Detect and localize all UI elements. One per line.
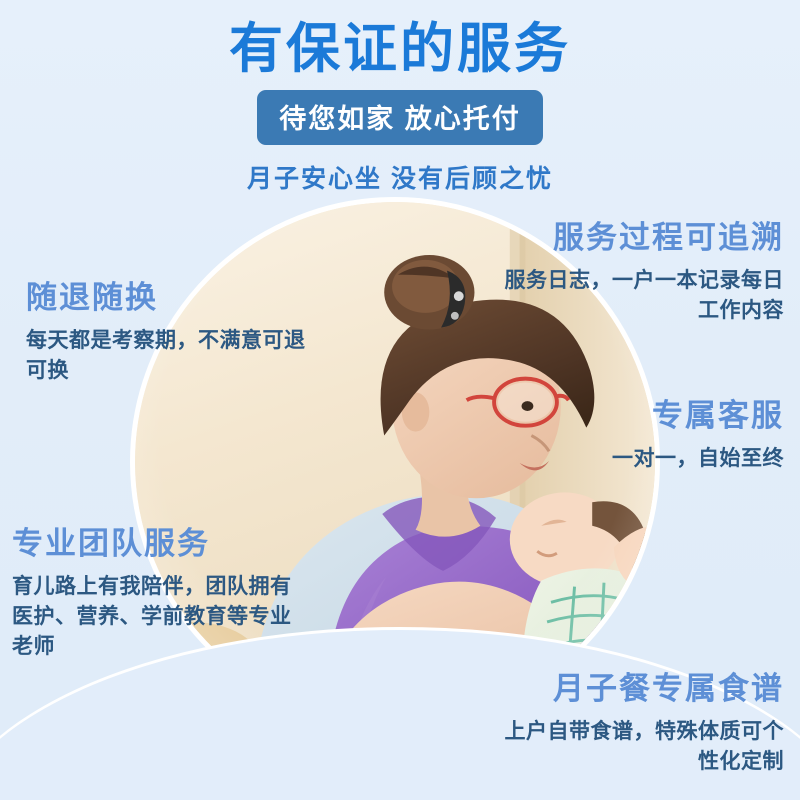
status-badge: 待您如家 放心托付	[257, 90, 543, 145]
feature-title: 月子餐专属食谱	[484, 663, 784, 708]
feature-title: 服务过程可追溯	[484, 212, 784, 257]
feature-body: 服务日志，一户一本记录每日工作内容	[484, 266, 784, 326]
feature-dedicated-service: 专属客服 一对一，自始至终	[474, 390, 784, 474]
feature-body: 一对一，自始至终	[474, 444, 784, 474]
poster-canvas: 有保证的服务 待您如家 放心托付 月子安心坐 没有后顾之忧	[0, 0, 800, 800]
feature-body: 每天都是考察期，不满意可退可换	[26, 326, 326, 386]
poster-header: 有保证的服务 待您如家 放心托付 月子安心坐 没有后顾之忧	[0, 0, 800, 195]
page-title: 有保证的服务	[0, 0, 800, 80]
feature-title: 专属客服	[474, 390, 784, 435]
feature-body: 育儿路上有我陪伴，团队拥有医护、营养、学前教育等专业老师	[12, 572, 312, 661]
feature-title: 专业团队服务	[12, 518, 312, 563]
feature-title: 随退随换	[26, 272, 326, 317]
feature-postpartum-recipe: 月子餐专属食谱 上户自带食谱，特殊体质可个性化定制	[484, 663, 784, 777]
feature-traceable: 服务过程可追溯 服务日志，一户一本记录每日工作内容	[484, 212, 784, 326]
feature-professional-team: 专业团队服务 育儿路上有我陪伴，团队拥有医护、营养、学前教育等专业老师	[12, 518, 312, 661]
feature-body: 上户自带食谱，特殊体质可个性化定制	[484, 717, 784, 777]
badge-container: 待您如家 放心托付	[0, 90, 800, 145]
feature-returnable: 随退随换 每天都是考察期，不满意可退可换	[26, 272, 326, 386]
sub-slogan: 月子安心坐 没有后顾之忧	[0, 159, 800, 195]
